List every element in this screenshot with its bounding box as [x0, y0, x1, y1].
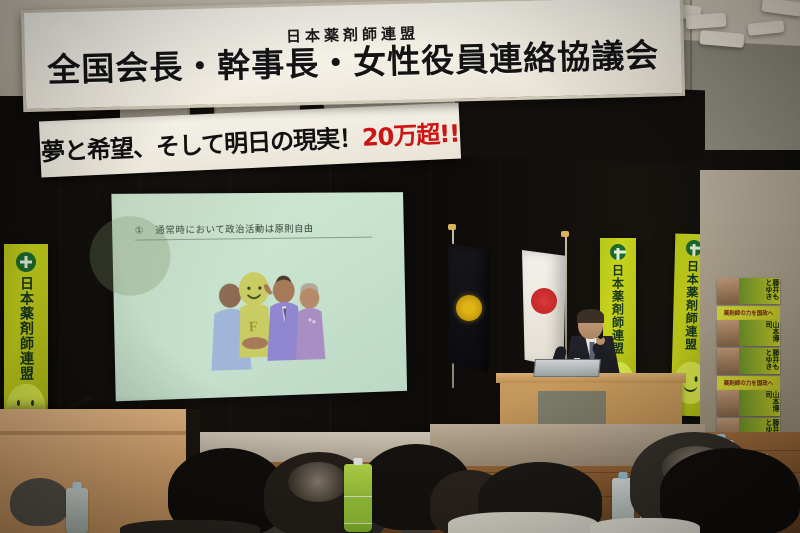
audience-bald-highlight — [288, 462, 348, 502]
pharmacist-cross-logo — [16, 252, 36, 272]
candidate-name: 藤井もとゆき — [739, 348, 780, 374]
hinomaru-disc — [531, 288, 557, 314]
campaign-slogan-strip: 薬剤師の力を国政へ — [717, 376, 780, 390]
chrysanthemum-emblem — [456, 295, 482, 321]
candidate-name: 山本博司 — [739, 390, 780, 416]
audience-shoulder — [448, 512, 598, 533]
beverage-bottle — [66, 488, 88, 533]
speaker-hair — [577, 309, 604, 323]
main-banner: 日本薬剤師連盟 全国会長・幹事長・女性役員連絡協議会 — [21, 0, 685, 112]
main-banner-title: 全国会長・幹事長・女性役員連絡協議会 — [47, 38, 660, 86]
nobori-label: 日本薬剤師連盟 — [682, 260, 701, 351]
campaign-poster: 山本博司 — [717, 390, 780, 416]
projection-screen: ① 通常時において政治活動は原則自由 F — [111, 192, 407, 401]
candidate-name: 山本博司 — [739, 320, 780, 346]
nobori-banner-left: 日本薬剤師連盟 — [4, 244, 48, 434]
audience-shoulder — [590, 518, 700, 533]
flag-finial — [448, 224, 456, 230]
podium-edge — [0, 431, 186, 435]
pharmacist-cross-logo — [610, 244, 626, 260]
bottle-cap — [619, 472, 628, 479]
photo-scene: ① 通常時において政治活動は原則自由 F — [0, 0, 800, 533]
campaign-poster: 山本博司 — [717, 320, 780, 346]
bottle-label — [344, 496, 372, 524]
campaign-poster: 藤井もとゆき — [717, 348, 780, 374]
candidate-photo — [717, 320, 739, 346]
candidate-photo — [717, 348, 739, 374]
candidate-photo — [717, 390, 739, 416]
slogan-banner-text-black: 夢と希望、そして明日の現実！ — [40, 117, 363, 167]
slogan-banner-text-red: 20万超!! — [361, 113, 460, 152]
audience-head — [10, 478, 70, 526]
audience-shoulder — [120, 520, 260, 533]
flag-finial — [561, 231, 569, 237]
bottle-cap — [354, 458, 363, 465]
bottle-cap — [73, 482, 82, 489]
government-flag — [448, 243, 490, 373]
campaign-slogan: 薬剤師の力を国政へ — [724, 309, 774, 317]
speaker-head — [578, 310, 603, 339]
laptop-on-podium — [533, 359, 601, 377]
nobori-label: 日本薬剤師連盟 — [16, 276, 36, 381]
candidate-name: 藤井もとゆき — [739, 278, 780, 304]
campaign-slogan-strip: 薬剤師の力を国政へ — [717, 306, 780, 320]
candidate-photo — [717, 278, 739, 304]
campaign-poster: 藤井もとゆき — [717, 278, 780, 304]
ceiling-lamp — [686, 13, 727, 30]
screen-glare — [111, 192, 407, 401]
campaign-slogan: 薬剤師の力を国政へ — [724, 379, 774, 387]
